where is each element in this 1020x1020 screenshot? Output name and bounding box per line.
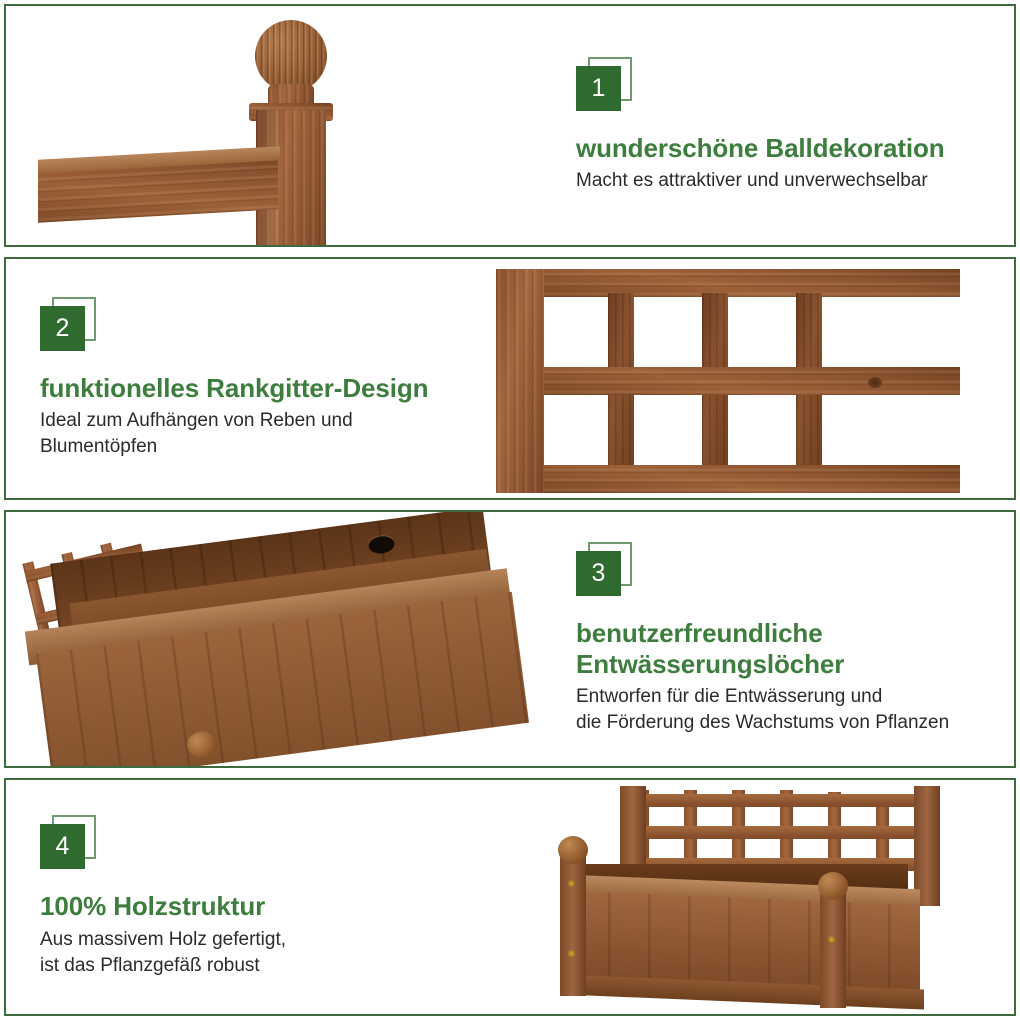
feature-panel-3: 3 benutzerfreundliche Entwässerungslöche… — [4, 510, 1016, 768]
feature-image-3 — [6, 512, 542, 766]
ball-finial-left — [558, 836, 588, 864]
feature-text-2: 2 funktionelles Rankgitter-Design Ideal … — [6, 297, 478, 460]
trellis-horizontal-2 — [624, 826, 924, 839]
feature-image-1 — [6, 6, 542, 245]
complete-planter-illustration — [478, 780, 1014, 1014]
product-feature-infographic: 1 wunderschöne Balldekoration Macht es a… — [0, 0, 1020, 1020]
feature-image-2 — [478, 259, 1014, 498]
screw-head-2 — [568, 950, 575, 957]
feature-text-4: 4 100% Holzstruktur Aus massivem Holz ge… — [6, 815, 478, 978]
ball-finial-shape — [255, 20, 327, 92]
badge-number: 4 — [40, 824, 85, 869]
planter-assembly — [524, 786, 954, 1012]
screw-head-3 — [828, 936, 835, 943]
feature-description-2: Ideal zum Aufhängen von Reben und Blumen… — [40, 408, 456, 460]
wood-knot — [868, 377, 882, 388]
feature-title-2: funktionelles Rankgitter-Design — [40, 373, 456, 403]
badge-number: 3 — [576, 551, 621, 596]
feature-description-3: Entworfen für die Entwässerung und die F… — [576, 684, 992, 736]
feature-badge-4: 4 — [40, 815, 102, 873]
lattice-horizontal-bar-middle — [544, 367, 960, 395]
feature-badge-3: 3 — [576, 542, 638, 600]
feature-badge-2: 2 — [40, 297, 102, 355]
badge-number: 1 — [576, 66, 621, 111]
trellis-horizontal-1 — [624, 794, 924, 807]
feature-panel-2: 2 funktionelles Rankgitter-Design Ideal … — [4, 257, 1016, 500]
ball-finial-right — [818, 872, 848, 900]
drainage-holes-illustration — [6, 512, 542, 766]
trellis-right-post — [914, 786, 940, 906]
feature-description-4: Aus massivem Holz gefertigt, ist das Pfl… — [40, 927, 456, 979]
feature-title-4: 100% Holzstruktur — [40, 891, 456, 921]
lattice-frame — [496, 269, 960, 493]
wooden-post-ball-finial-illustration — [6, 6, 542, 245]
lattice-side-post — [496, 269, 544, 493]
planter-box-angled — [15, 512, 521, 766]
lattice-horizontal-bar-bottom — [544, 465, 960, 493]
trellis-lattice-illustration — [478, 259, 1014, 498]
feature-panel-4: 4 100% Holzstruktur Aus massivem Holz ge… — [4, 778, 1016, 1016]
badge-number: 2 — [40, 306, 85, 351]
feature-badge-1: 1 — [576, 57, 638, 115]
feature-description-1: Macht es attraktiver und unverwechselbar — [576, 168, 992, 194]
feature-image-4 — [478, 780, 1014, 1014]
feature-text-3: 3 benutzerfreundliche Entwässerungslöche… — [542, 542, 1014, 735]
lattice-horizontal-bar-top — [544, 269, 960, 297]
feature-text-1: 1 wunderschöne Balldekoration Macht es a… — [542, 57, 1014, 194]
feature-title-3: benutzerfreundliche Entwässerungslöcher — [576, 618, 992, 679]
front-right-post — [820, 890, 846, 1008]
front-left-post — [560, 856, 586, 996]
feature-title-1: wunderschöne Balldekoration — [576, 133, 992, 163]
feature-panel-1: 1 wunderschöne Balldekoration Macht es a… — [4, 4, 1016, 247]
screw-head-1 — [568, 880, 575, 887]
